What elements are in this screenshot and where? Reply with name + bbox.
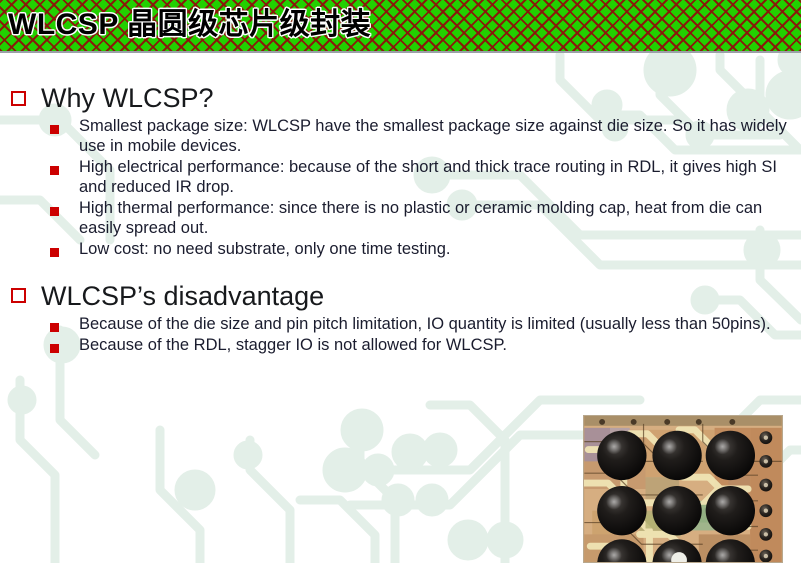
solid-square-bullet-icon [50,323,59,332]
list-item: Low cost: no need substrate, only one ti… [0,240,801,260]
wlcsp-die-photo [583,415,783,563]
solid-square-bullet-icon [50,125,59,134]
slide-title: WLCSP 晶圆级芯片级封装 [8,3,371,47]
list-item-text: High thermal performance: since there is… [79,199,797,238]
section-why-wlcsp: Why WLCSP? Smallest package size: WLCSP … [0,53,801,260]
section-heading: WLCSP’s disadvantage [0,277,801,315]
list-item-text: Smallest package size: WLCSP have the sm… [79,117,797,156]
list-item-text: Because of the RDL, stagger IO is not al… [79,336,507,356]
slide: WLCSP 晶圆级芯片级封装 Why WLCSP? Smallest packa… [0,0,801,563]
section-heading: Why WLCSP? [0,79,801,117]
solid-square-bullet-icon [50,248,59,257]
section-heading-label: Why WLCSP? [41,83,214,113]
list-item: High thermal performance: since there is… [0,199,801,238]
bullet-list: Smallest package size: WLCSP have the sm… [0,117,801,260]
list-item: High electrical performance: because of … [0,158,801,197]
list-item: Because of the die size and pin pitch li… [0,315,801,335]
list-item-text: Because of the die size and pin pitch li… [79,315,771,335]
solid-square-bullet-icon [50,207,59,216]
slide-title-bar: WLCSP 晶圆级芯片级封装 [0,0,801,53]
solid-square-bullet-icon [50,344,59,353]
list-item-text: Low cost: no need substrate, only one ti… [79,240,450,260]
section-heading-label: WLCSP’s disadvantage [41,281,324,311]
section-wlcsp-disadvantage: WLCSP’s disadvantage Because of the die … [0,262,801,356]
hollow-square-bullet-icon [11,91,26,106]
bullet-list: Because of the die size and pin pitch li… [0,315,801,356]
solid-square-bullet-icon [50,166,59,175]
list-item: Because of the RDL, stagger IO is not al… [0,336,801,356]
list-item: Smallest package size: WLCSP have the sm… [0,117,801,156]
list-item-text: High electrical performance: because of … [79,158,797,197]
hollow-square-bullet-icon [11,288,26,303]
